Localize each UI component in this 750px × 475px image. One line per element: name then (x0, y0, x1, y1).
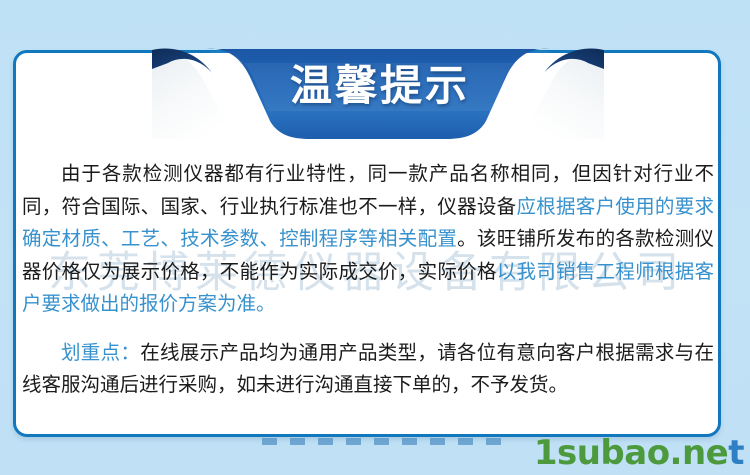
site-watermark-blue: t (728, 433, 744, 473)
paragraph-1: 由于各款检测仪器都有行业特性，同一款产品名称相同，但因针对行业不同，符合国际、国… (22, 158, 714, 321)
p1-segment-5: 。 (256, 292, 276, 315)
notice-body: 由于各款检测仪器都有行业特性，同一款产品名称相同，但因针对行业不同，符合国际、国… (22, 158, 714, 402)
paragraph-2: 划重点：在线展示产品均为通用产品类型，请各位有意向客户根据需求与在线客服沟通后进… (22, 337, 714, 402)
site-watermark: 1subao.net (534, 433, 744, 473)
watermark-dashes (262, 438, 512, 445)
site-watermark-green: 1subao.ne (534, 433, 728, 473)
notice-banner-image: 东莞博莱德仪器设备有限公司 (0, 0, 750, 475)
ribbon-banner: 温馨提示 (150, 29, 606, 139)
p2-highlight-1: 划重点： (61, 341, 140, 364)
